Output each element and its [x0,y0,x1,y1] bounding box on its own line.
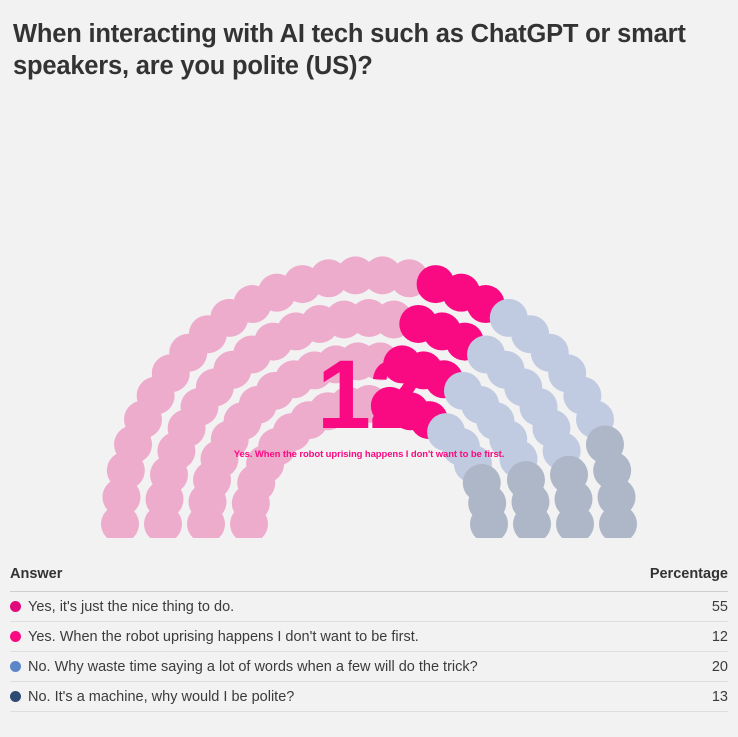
cell-percentage: 12 [625,622,728,652]
table-row: No. Why waste time saying a lot of words… [10,652,728,682]
answer-label: Yes, it's just the nice thing to do. [28,599,234,615]
legend-dot-icon [10,661,21,672]
table-body: Yes, it's just the nice thing to do.55Ye… [10,592,728,712]
table-row: Yes, it's just the nice thing to do.55 [10,592,728,622]
parliament-svg [0,108,738,538]
table-row: Yes. When the robot uprising happens I d… [10,622,728,652]
answer-label: No. Why waste time saying a lot of words… [28,659,478,675]
cell-percentage: 55 [625,592,728,622]
parliament-dots [101,256,637,538]
column-header-percentage: Percentage [625,566,728,592]
cell-answer: No. Why waste time saying a lot of words… [10,652,625,682]
cell-percentage: 13 [625,682,728,712]
table-header: Answer Percentage [10,566,728,592]
table-header-row: Answer Percentage [10,566,728,592]
cell-answer: Yes, it's just the nice thing to do. [10,592,625,622]
cell-answer: No. It's a machine, why would I be polit… [10,682,625,712]
cell-percentage: 20 [625,652,728,682]
cell-answer: Yes. When the robot uprising happens I d… [10,622,625,652]
answer-label: Yes. When the robot uprising happens I d… [28,629,419,645]
legend-dot-icon [10,601,21,612]
legend-dot-icon [10,631,21,642]
parliament-dot-chart [0,108,738,538]
table-row: No. It's a machine, why would I be polit… [10,682,728,712]
answer-label: No. It's a machine, why would I be polit… [28,689,294,705]
column-header-answer: Answer [10,566,625,592]
answer-percentage-table: Answer Percentage Yes, it's just the nic… [10,566,728,712]
legend-dot-icon [10,691,21,702]
page-title: When interacting with AI tech such as Ch… [13,18,725,82]
